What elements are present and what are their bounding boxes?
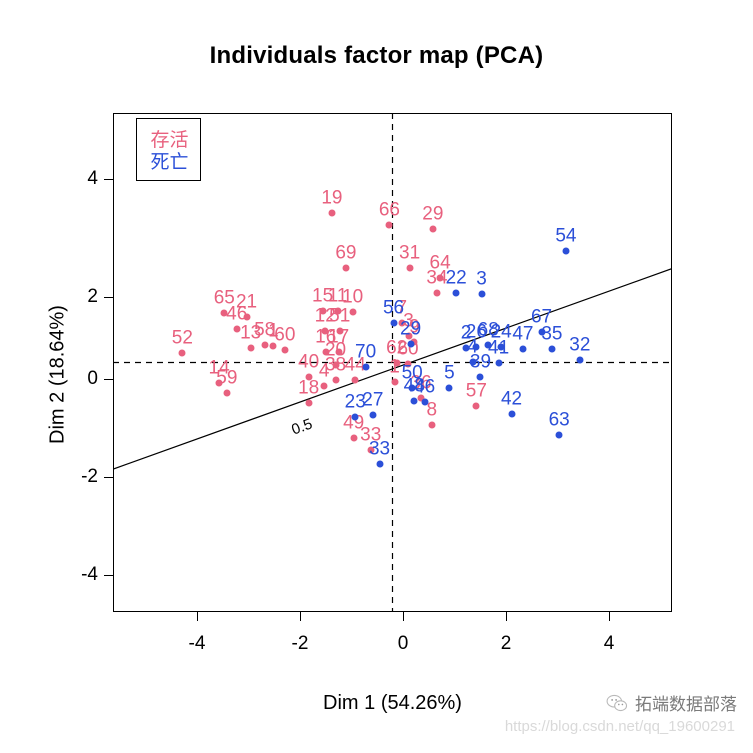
- xtick-label-4: 4: [589, 633, 629, 655]
- page-title: Individuals factor map (PCA): [0, 42, 753, 70]
- plot-frame: [113, 113, 672, 612]
- y-axis-label: Dim 2 (18.64%): [47, 95, 70, 655]
- watermark: 拓端数据部落: [606, 690, 737, 715]
- xtick-label-neg2: -2: [280, 633, 320, 655]
- xtick-mark-2: [506, 612, 507, 621]
- xtick-label-neg4: -4: [177, 633, 217, 655]
- ytick-mark-neg4: [104, 575, 113, 576]
- pca-plot-page: Individuals factor map (PCA) 4 2 0 -2 -4…: [0, 0, 753, 753]
- xtick-label-0: 0: [383, 633, 423, 655]
- legend-box: 存活 死亡: [136, 118, 201, 181]
- ytick-mark-4: [104, 179, 113, 180]
- watermark-url: https://blog.csdn.net/qq_19600291: [505, 718, 735, 735]
- ytick-mark-0: [104, 379, 113, 380]
- ytick-mark-neg2: [104, 477, 113, 478]
- xtick-mark-4: [609, 612, 610, 621]
- ytick-mark-2: [104, 297, 113, 298]
- watermark-text: 拓端数据部落: [635, 690, 737, 715]
- legend-item-died: 死亡: [137, 153, 202, 172]
- xtick-label-2: 2: [486, 633, 526, 655]
- xtick-mark-neg4: [197, 612, 198, 621]
- xtick-mark-0: [403, 612, 404, 621]
- wechat-icon: [606, 694, 628, 712]
- x-axis-label: Dim 1 (54.26%): [113, 692, 672, 715]
- xtick-mark-neg2: [300, 612, 301, 621]
- legend-item-survived: 存活: [137, 131, 202, 150]
